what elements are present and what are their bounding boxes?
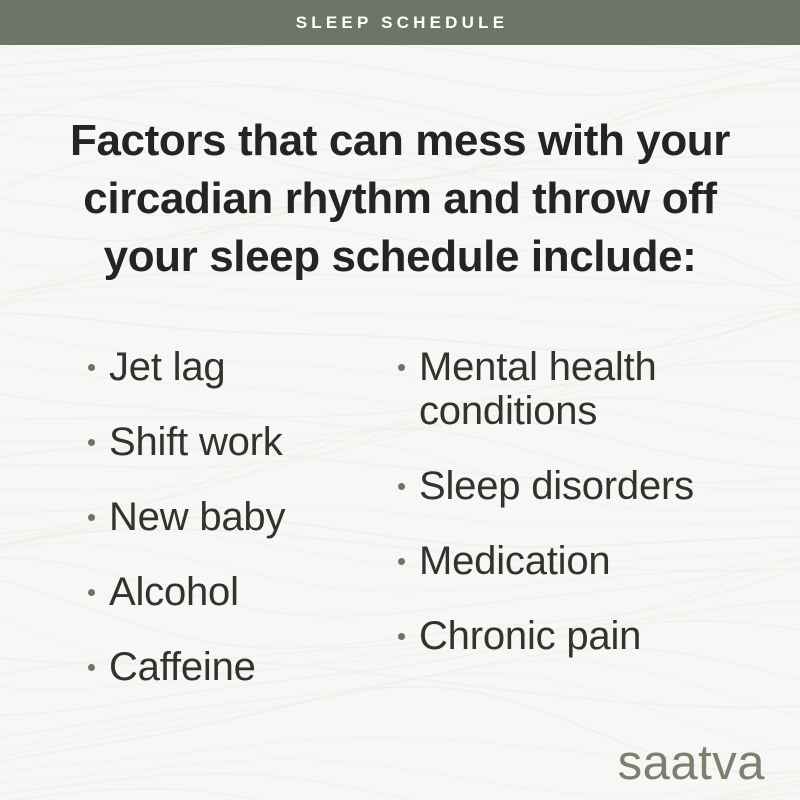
bullet-icon — [88, 439, 95, 446]
factor-right-label: Chronic pain — [419, 614, 738, 658]
factor-left-label: Alcohol — [109, 570, 388, 614]
list-item: Caffeine — [88, 645, 388, 689]
page-title-line-3: your sleep schedule include: — [50, 228, 750, 286]
factor-right-label: Sleep disorders — [419, 464, 738, 508]
bullet-icon — [88, 664, 95, 671]
factor-left-label: New baby — [109, 495, 388, 539]
factor-right-label: Mental health conditions — [419, 345, 738, 433]
factors-list-left: Jet lagShift workNew babyAlcoholCaffeine — [88, 345, 388, 720]
top-banner: SLEEP SCHEDULE — [0, 0, 800, 45]
factor-left-label: Caffeine — [109, 645, 388, 689]
bullet-icon — [398, 558, 405, 565]
bullet-icon — [88, 364, 95, 371]
saatva-logo: saatva — [618, 739, 765, 788]
infographic-card: SLEEP SCHEDULE Factors that can mess wit… — [0, 0, 800, 800]
bullet-icon — [398, 483, 405, 490]
bullet-icon — [398, 633, 405, 640]
list-item: New baby — [88, 495, 388, 539]
list-item: Medication — [398, 539, 738, 583]
list-item: Mental health conditions — [398, 345, 738, 433]
banner-title: SLEEP SCHEDULE — [292, 14, 508, 31]
bullet-icon — [398, 364, 405, 371]
bullet-icon — [88, 514, 95, 521]
factor-right-label: Medication — [419, 539, 738, 583]
list-item: Shift work — [88, 420, 388, 464]
page-title-line-2: circadian rhythm and throw off — [50, 170, 750, 228]
page-title-line-1: Factors that can mess with your — [50, 112, 750, 170]
list-item: Alcohol — [88, 570, 388, 614]
list-item: Chronic pain — [398, 614, 738, 658]
list-item: Jet lag — [88, 345, 388, 389]
page-title: Factors that can mess with your circadia… — [50, 112, 750, 286]
factors-list-right: Mental health conditionsSleep disordersM… — [398, 345, 738, 689]
list-item: Sleep disorders — [398, 464, 738, 508]
factor-left-label: Shift work — [109, 420, 388, 464]
factor-left-label: Jet lag — [109, 345, 388, 389]
bullet-icon — [88, 589, 95, 596]
